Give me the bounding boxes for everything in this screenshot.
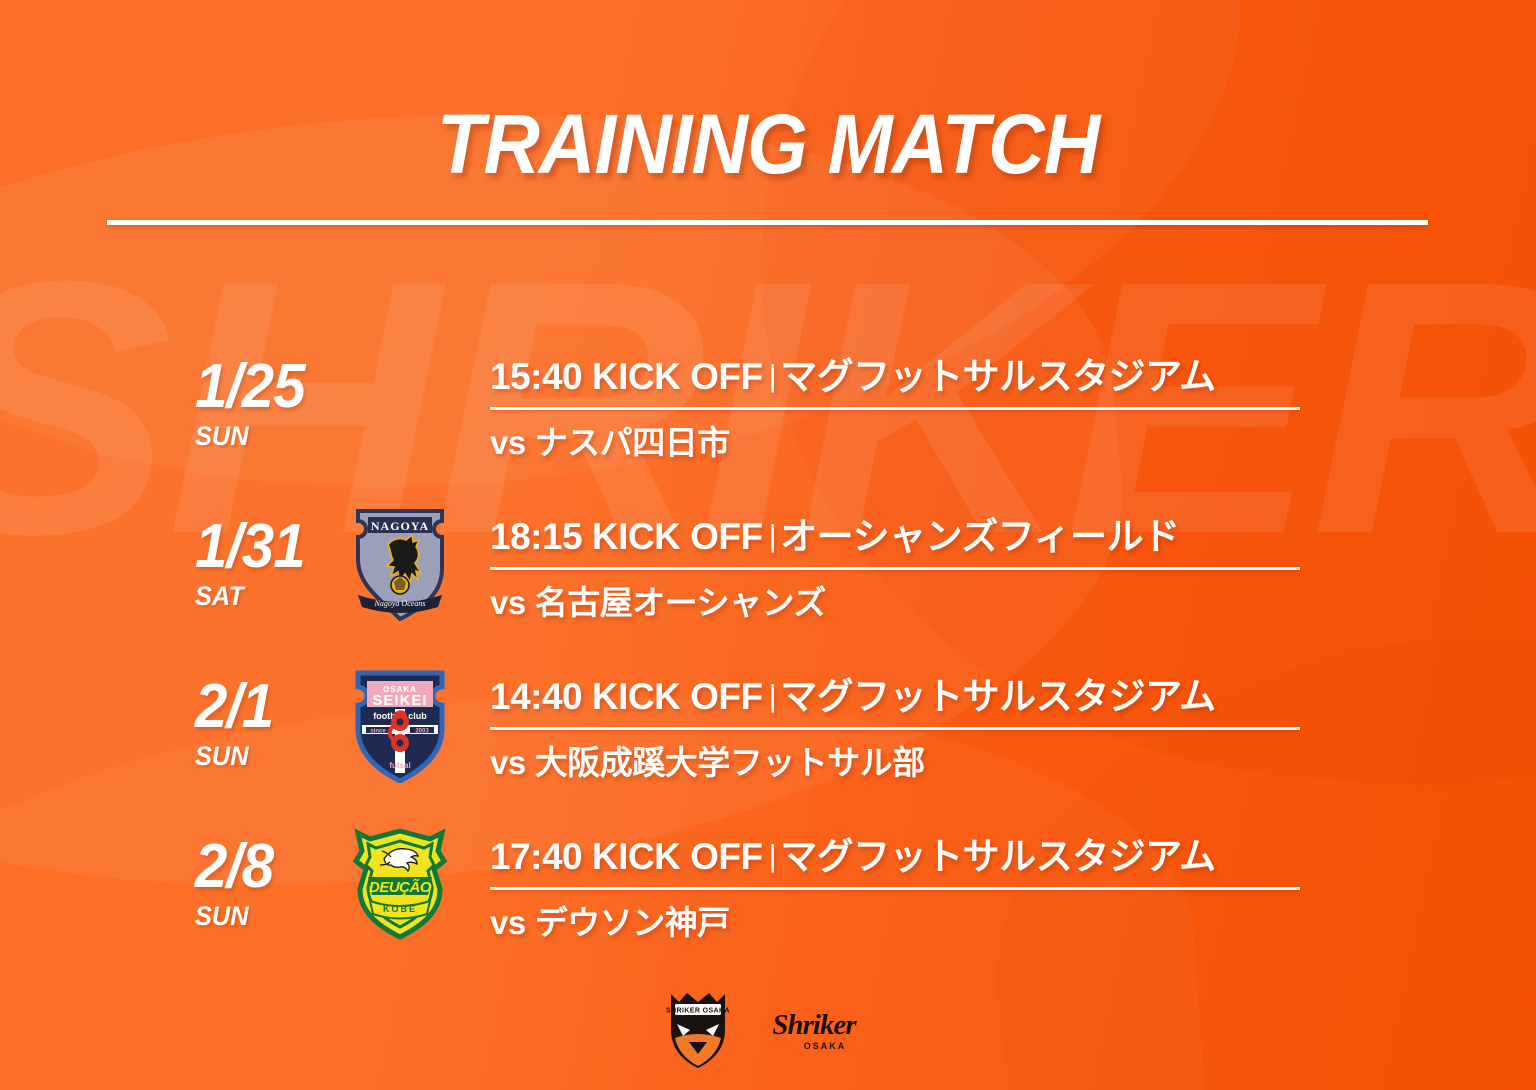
venue-name: マグフットサルスタジアム xyxy=(780,676,1215,717)
match-date: 2/8 xyxy=(195,838,322,895)
page-title: TRAINING MATCH xyxy=(54,96,1482,193)
svg-text:SHRIKER OSAKA: SHRIKER OSAKA xyxy=(666,1008,730,1015)
match-date-column: 2/8 SUN xyxy=(0,838,330,932)
title-divider xyxy=(107,220,1428,225)
match-opponent-line: vsナスパ四日市 xyxy=(490,416,1536,464)
opponent-name: 名古屋オーシャンズ xyxy=(535,584,826,621)
svg-text:Nagoya Oceans: Nagoya Oceans xyxy=(374,599,426,608)
kickoff-time: 17:40 KICK OFF xyxy=(490,836,763,877)
shriker-osaka-emblem-icon: SHRIKER OSAKA xyxy=(663,990,733,1070)
kickoff-time: 15:40 KICK OFF xyxy=(490,356,763,397)
opponent-crest-slot: DEUÇÃO KOBE xyxy=(330,827,470,943)
shriker-osaka-wordmark-icon: Shriker OSAKA xyxy=(755,1004,873,1056)
svg-text:KOBE: KOBE xyxy=(383,904,417,914)
opponent-crest-slot: NAGOYA Nagoya Oceans xyxy=(330,507,470,623)
opponent-crest-slot: OSAKA SEIKEI football club since 2003 xyxy=(330,667,470,783)
footer-branding: SHRIKER OSAKA Shriker OSAKA xyxy=(0,990,1536,1070)
match-row: 1/31 SAT NAGOYA Nagoya Oceans xyxy=(0,485,1536,645)
svg-text:OSAKA: OSAKA xyxy=(804,1041,847,1051)
vs-label: vs xyxy=(490,904,526,941)
match-weekday: SUN xyxy=(195,741,322,772)
opponent-name: ナスパ四日市 xyxy=(535,424,730,461)
svg-text:2003: 2003 xyxy=(415,729,429,735)
match-opponent-line: vs大阪成蹊大学フットサル部 xyxy=(490,736,1536,784)
venue-name: マグフットサルスタジアム xyxy=(780,836,1215,877)
match-date-column: 2/1 SUN xyxy=(0,678,330,772)
match-date: 2/1 xyxy=(195,678,322,735)
svg-text:DEUÇÃO: DEUÇÃO xyxy=(369,878,432,896)
kickoff-separator: | xyxy=(763,518,781,553)
match-kickoff-line: 17:40 KICK OFF|マグフットサルスタジアム xyxy=(490,826,1536,880)
match-kickoff-line: 15:40 KICK OFF|マグフットサルスタジアム xyxy=(490,346,1536,400)
kickoff-separator: | xyxy=(763,358,781,393)
match-underline xyxy=(490,567,1300,570)
match-row: 1/25 SUN 15:40 KICK OFF|マグフットサルスタジアム vsナ… xyxy=(0,325,1536,485)
match-row: 2/1 SUN OSAKA SEIKEI football club since… xyxy=(0,645,1536,805)
match-weekday: SAT xyxy=(195,581,322,612)
kickoff-time: 14:40 KICK OFF xyxy=(490,676,763,717)
opponent-name: デウソン神戸 xyxy=(535,904,730,941)
venue-name: マグフットサルスタジアム xyxy=(780,356,1215,397)
match-date-column: 1/31 SAT xyxy=(0,518,330,612)
match-info: 15:40 KICK OFF|マグフットサルスタジアム vsナスパ四日市 xyxy=(470,346,1536,464)
svg-text:since: since xyxy=(370,729,386,735)
svg-text:NAGOYA: NAGOYA xyxy=(371,519,429,533)
svg-text:Shriker: Shriker xyxy=(772,1009,857,1041)
match-row: 2/8 SUN DEUÇÃO KOBE xyxy=(0,805,1536,965)
kickoff-time: 18:15 KICK OFF xyxy=(490,516,763,557)
training-match-poster: SHRIKER TRAINING MATCH 1/25 SUN 15:40 KI… xyxy=(0,0,1536,1090)
match-weekday: SUN xyxy=(195,901,322,932)
vs-label: vs xyxy=(490,744,526,781)
match-opponent-line: vsデウソン神戸 xyxy=(490,896,1536,944)
match-info: 14:40 KICK OFF|マグフットサルスタジアム vs大阪成蹊大学フットサ… xyxy=(470,666,1536,784)
venue-name: オーシャンズフィールド xyxy=(780,516,1179,557)
match-info: 18:15 KICK OFF|オーシャンズフィールド vs名古屋オーシャンズ xyxy=(470,506,1536,624)
kickoff-separator: | xyxy=(763,838,781,873)
vs-label: vs xyxy=(490,424,526,461)
match-kickoff-line: 18:15 KICK OFF|オーシャンズフィールド xyxy=(490,506,1536,560)
vs-label: vs xyxy=(490,584,526,621)
match-date: 1/31 xyxy=(195,518,322,575)
nagoya-oceans-crest: NAGOYA Nagoya Oceans xyxy=(352,507,448,623)
match-date-column: 1/25 SUN xyxy=(0,358,330,452)
match-list: 1/25 SUN 15:40 KICK OFF|マグフットサルスタジアム vsナ… xyxy=(0,325,1536,965)
kickoff-separator: | xyxy=(763,678,781,713)
match-kickoff-line: 14:40 KICK OFF|マグフットサルスタジアム xyxy=(490,666,1536,720)
opponent-name: 大阪成蹊大学フットサル部 xyxy=(535,744,925,781)
match-underline xyxy=(490,887,1300,890)
match-info: 17:40 KICK OFF|マグフットサルスタジアム vsデウソン神戸 xyxy=(470,826,1536,944)
match-underline xyxy=(490,727,1300,730)
match-opponent-line: vs名古屋オーシャンズ xyxy=(490,576,1536,624)
match-date: 1/25 xyxy=(195,358,322,415)
deucao-kobe-crest: DEUÇÃO KOBE xyxy=(352,827,448,943)
svg-text:futsal: futsal xyxy=(389,761,410,770)
match-weekday: SUN xyxy=(195,421,322,452)
svg-text:SEIKEI: SEIKEI xyxy=(372,692,427,709)
match-underline xyxy=(490,407,1300,410)
osaka-seikei-crest: OSAKA SEIKEI football club since 2003 xyxy=(352,667,448,783)
